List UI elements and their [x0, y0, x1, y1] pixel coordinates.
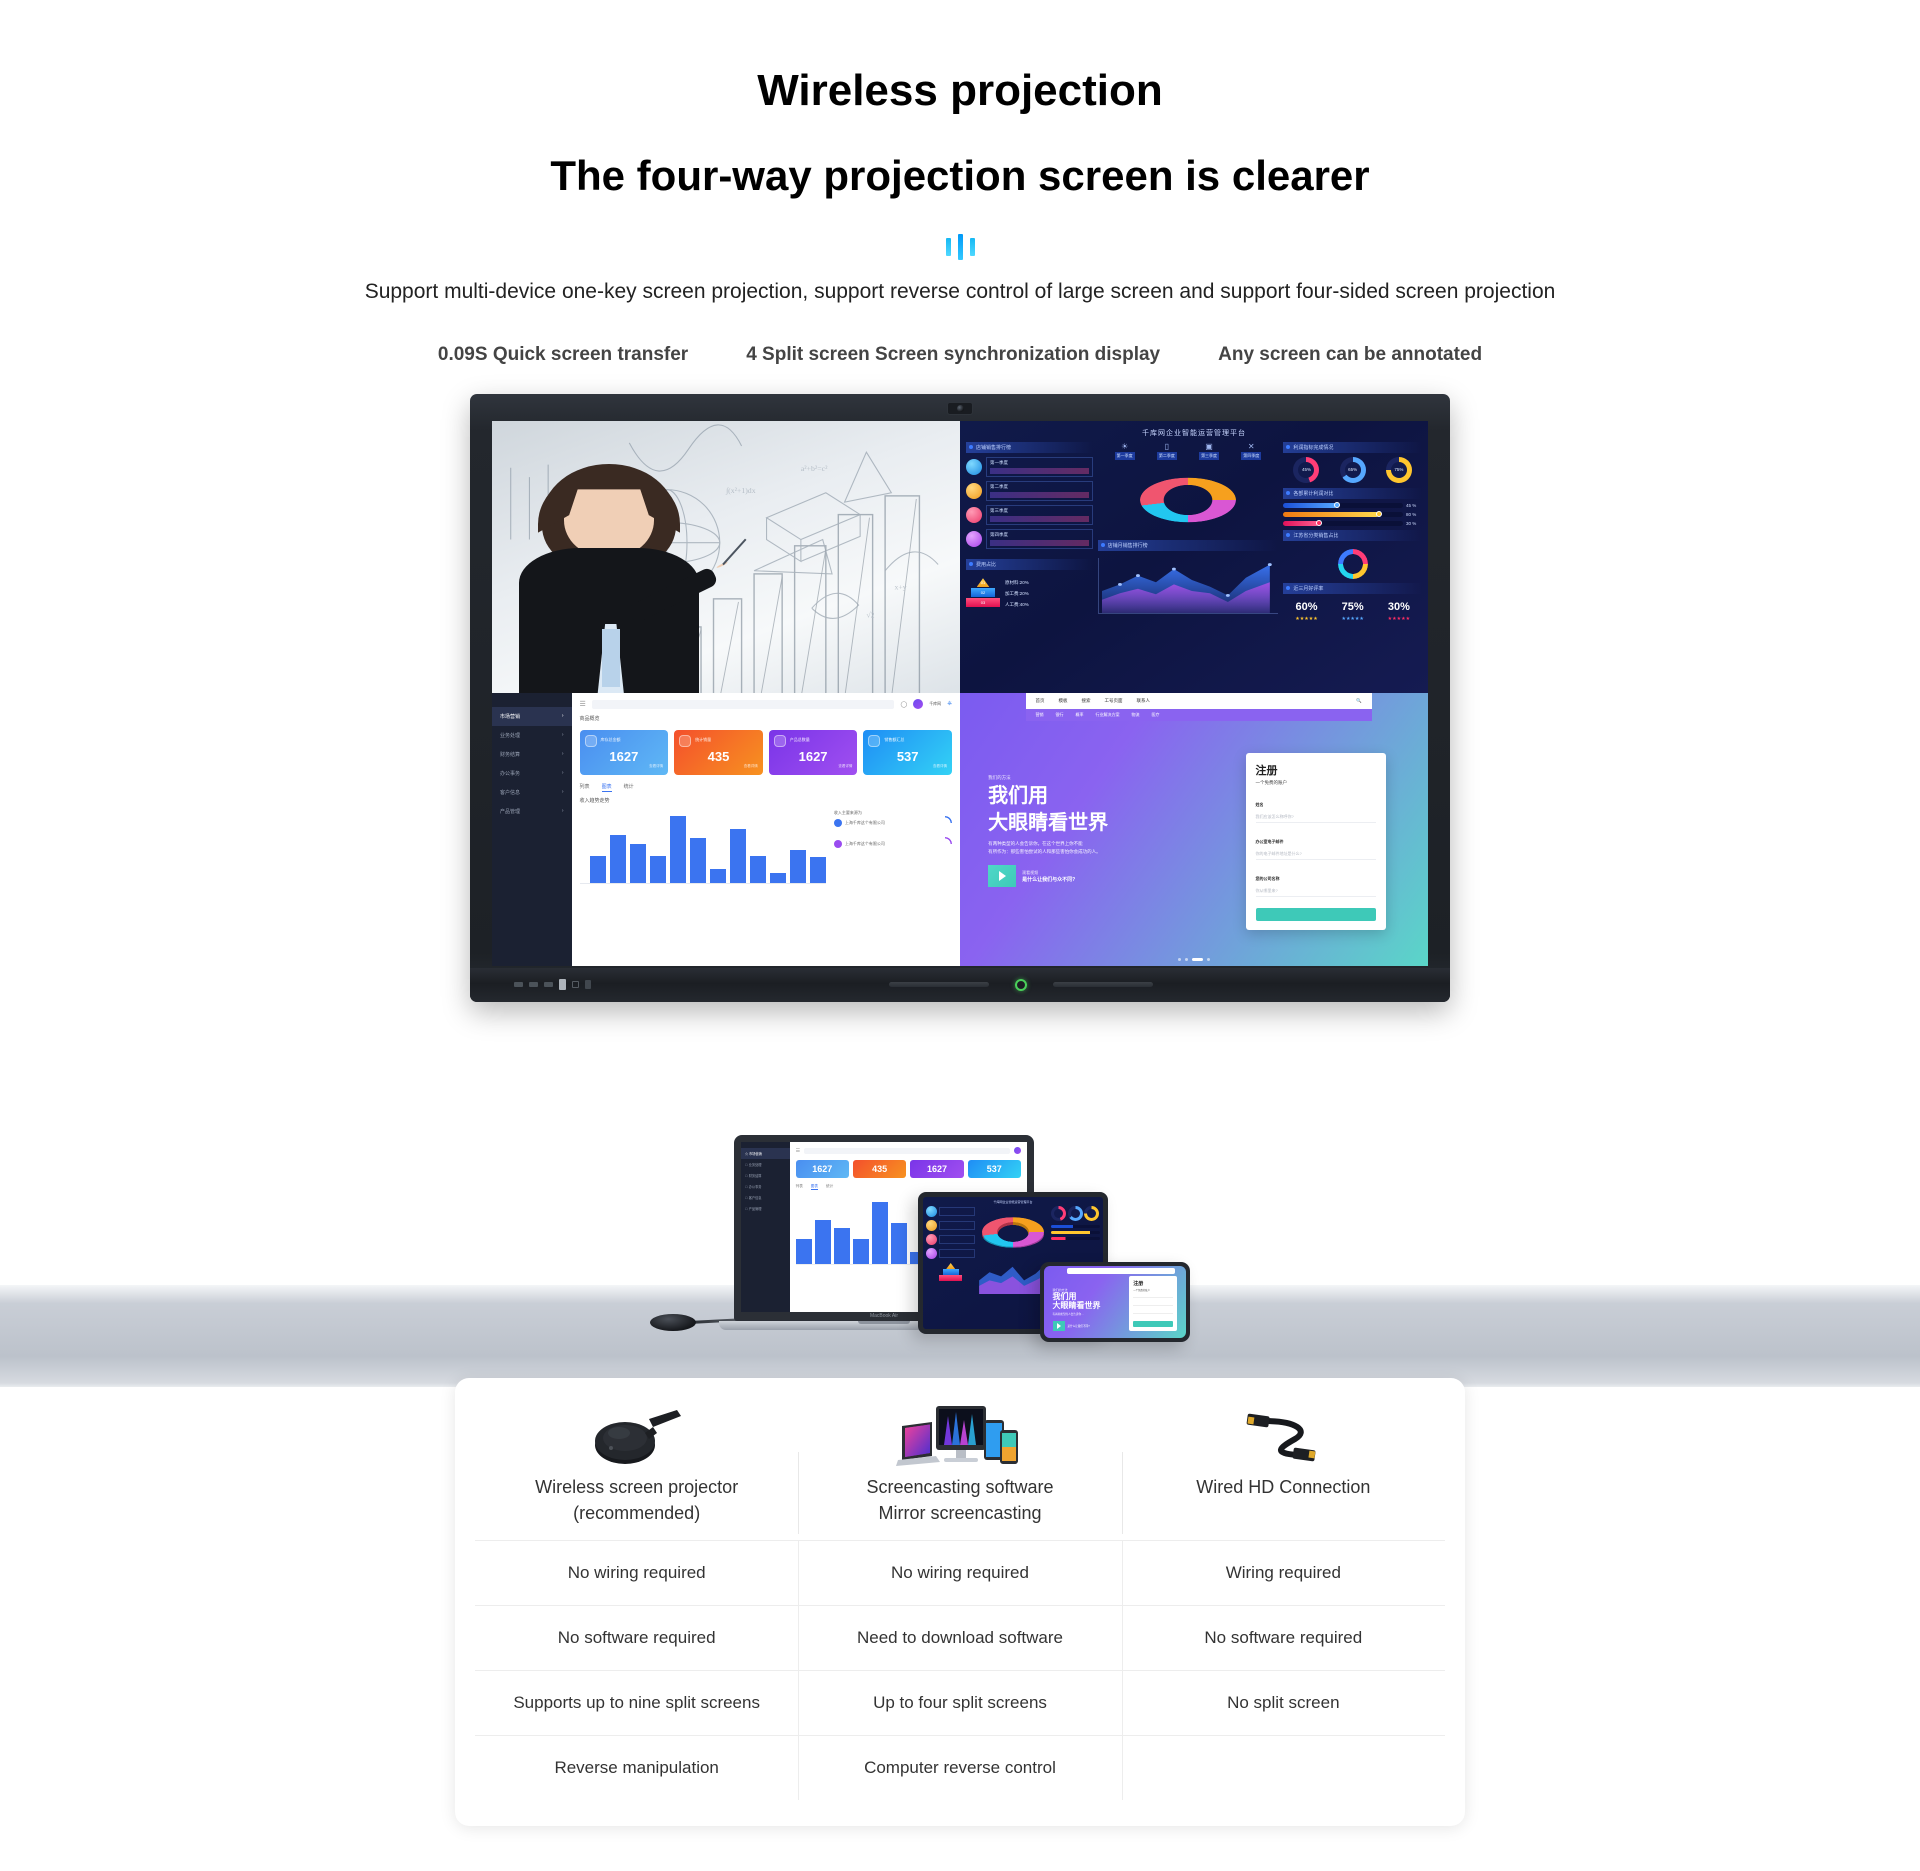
quadrant-admin-dashboard: 市场营销› 业务处理› 财务结算› 办公事务› 客户信息› 产品管理› ☰ ◯ — [492, 693, 960, 966]
field-label: 姓名 — [1256, 802, 1264, 807]
cell-wireless-reverse: Reverse manipulation — [475, 1736, 798, 1800]
progress-bar-3-value: 30 % — [1406, 521, 1422, 526]
quarter-tab-2-label: 第二季度 — [1157, 452, 1177, 460]
presenter-figure — [515, 459, 702, 693]
chart-icon — [585, 735, 597, 747]
bi-panel-expense-label: 费用占比 — [966, 559, 1093, 570]
landing-headline-1: 我们用 — [988, 784, 1203, 808]
gauge-chart-2: 65% — [1340, 457, 1366, 483]
progress-bar-row: 30 % — [1283, 521, 1422, 526]
bi-profit-target-text: 利润指标完成情况 — [1293, 444, 1333, 451]
star-rating-icon: ★★★★★ — [1295, 616, 1317, 622]
wallet-icon — [966, 531, 982, 547]
device-cluster: ☆ 市场营销 ☐ 业务处理 ☐ 财务结算 ☐ 办公事务 ☐ 客户信息 ☐ 产品管… — [0, 1110, 1920, 1360]
cell-wireless-split: Supports up to nine split screens — [475, 1671, 798, 1735]
admin-sidebar[interactable]: 市场营销› 业务处理› 财务结算› 办公事务› 客户信息› 产品管理› — [492, 693, 572, 966]
comparison-column-wired: Wired HD Connection — [1122, 1396, 1445, 1540]
sidebar-item-marketing[interactable]: 市场营销› — [492, 707, 572, 726]
field-placeholder: 你的电子邮件地址是什么? — [1256, 851, 1376, 860]
carousel-dot-active[interactable] — [1192, 958, 1203, 961]
column-label-line1: Screencasting software — [808, 1474, 1111, 1500]
power-key-icon[interactable] — [585, 980, 591, 989]
pyramid-level-1: 01 — [977, 578, 990, 587]
sidebar-item-business[interactable]: 业务处理› — [492, 726, 572, 745]
column-label-line2: (recommended) — [485, 1500, 788, 1526]
pyramid-legend-3: 人工费:40% — [1005, 599, 1029, 610]
hdmi-cable-icon — [1132, 1402, 1435, 1474]
sparkline-chart — [990, 492, 1089, 498]
power-indicator-icon[interactable] — [1015, 979, 1027, 991]
form-submit-button[interactable] — [1256, 908, 1376, 921]
page-subtitle-heading: The four-way projection screen is cleare… — [0, 149, 1920, 204]
bi-jiangsu-text: 江苏省分类销售占比 — [1293, 532, 1338, 539]
feature-item-split-screen: 4 Split screen Screen synchronization di… — [746, 344, 1160, 366]
bi-rank-label: 第四季度 — [990, 532, 1089, 538]
port-cluster — [514, 979, 591, 990]
divider-bar-left — [946, 238, 951, 256]
kpi-value: 1627 — [585, 749, 664, 764]
quarter-tab-4[interactable]: ✕第四季度 — [1241, 442, 1261, 460]
camera-icon — [947, 402, 973, 415]
donut-3d-chart — [1140, 464, 1236, 536]
donut-mini-icon — [938, 837, 952, 851]
bi-panel-praise-label: 近三月好评率 — [1283, 583, 1422, 594]
svg-text:x+y: x+y — [894, 582, 906, 591]
bi-center-column: ☀第一季度 ▯第二季度 ▣第三季度 ✕第四季度 店铺月销售排行榜 — [1098, 442, 1279, 689]
kpi-sub: 查看详情 — [868, 764, 947, 769]
column-label-line1: Wireless screen projector — [485, 1474, 788, 1500]
form-title: 注册 — [1256, 762, 1376, 778]
comparison-column-software: Screencasting software Mirror screencast… — [798, 1396, 1121, 1540]
praise-value-3: 30% — [1388, 601, 1410, 613]
document-icon — [679, 735, 691, 747]
bi-right-column: 利润指标完成情况 45% 65% 75% 各部累计利润对比 45 % — [1283, 442, 1422, 689]
nav-item-template[interactable]: 模板 — [1059, 698, 1068, 704]
chevron-right-icon: › — [562, 751, 564, 758]
praise-value-1: 60% — [1295, 601, 1317, 613]
sidebar-item-customer[interactable]: 客户信息› — [492, 783, 572, 802]
gauge-chart-3: 75% — [1386, 457, 1412, 483]
bi-panel-profit-target-label: 利润指标完成情况 — [1283, 442, 1422, 453]
carousel-dots[interactable] — [1178, 958, 1210, 961]
form-field-email[interactable]: 办公室电子邮件你的电子邮件地址是什么? — [1256, 830, 1376, 860]
cell-software-split: Up to four split screens — [798, 1671, 1121, 1735]
speaker-and-power-group — [889, 979, 1153, 991]
nav-item-search[interactable]: 搜索 — [1082, 698, 1091, 704]
kpi-sub: 查看详情 — [774, 764, 853, 769]
donut-ring — [1140, 477, 1236, 522]
revenue-source-item: 上海千库这个有限公司 — [834, 816, 952, 830]
field-placeholder: 我们应该怎么称呼你? — [1256, 814, 1376, 823]
field-label: 办公室电子邮件 — [1256, 839, 1284, 844]
gauge-group: 45% 65% 75% — [1283, 457, 1422, 483]
admin-chart-tabs[interactable]: 列表 图表 统计 — [580, 783, 952, 792]
clock-icon — [868, 735, 880, 747]
svg-text:√2: √2 — [866, 610, 874, 619]
multi-device-glyph — [896, 1404, 1024, 1472]
landing-headline-2: 大眼睛看世界 — [988, 811, 1203, 835]
gauge-3-value: 75% — [1394, 467, 1403, 472]
column-label-line1: Wired HD Connection — [1132, 1474, 1435, 1500]
wireless-dongle-icon — [485, 1402, 788, 1474]
revenue-source-name: 上海千库这个有限公司 — [845, 820, 885, 826]
subnav-item-probability[interactable]: 概率 — [1076, 712, 1084, 718]
kpi-card[interactable]: 统计销量435查看详情 — [674, 730, 763, 775]
hero-section: Wireless projection The four-way project… — [0, 0, 1920, 366]
chevron-right-icon: › — [562, 789, 564, 796]
search-icon[interactable]: 🔍 — [1356, 698, 1362, 704]
star-rating-icon: ★★★★★ — [1341, 616, 1363, 622]
bi-expense-text: 费用占比 — [976, 561, 996, 568]
landing-hero-text: 我们的方法 我们用 大眼睛看世界 有两种类型的人会告诉你，在这个世界上你不能 有… — [988, 775, 1203, 887]
field-label: 您的公司名称 — [1256, 876, 1280, 881]
bi-monthly-text: 店铺月销售排行榜 — [1108, 542, 1148, 549]
usb-port-icon — [559, 979, 566, 990]
display-showcase: ∫(x²+1)dx a²+b²=c² x+y √2 y=kx Σ — [0, 394, 1920, 1002]
kpi-card[interactable]: 库存总金额1627查看详情 — [580, 730, 669, 775]
kpi-value: 1627 — [774, 749, 853, 764]
pyramid-legend-2: 加工费:20% — [1005, 588, 1029, 599]
area-chart — [1098, 558, 1279, 614]
praise-value-2: 75% — [1342, 601, 1364, 613]
bi-dashboard-title: 千库网企业智能运营管理平台 — [966, 426, 1422, 442]
pyramid-chart: 01 02 03 原材料:20% 加工费:20% 人工费:40% — [966, 577, 1093, 610]
cell-wireless-software: No software required — [475, 1606, 798, 1670]
bi-quarter-tabs[interactable]: ☀第一季度 ▯第二季度 ▣第三季度 ✕第四季度 — [1098, 442, 1279, 460]
bi-rank-label: 第一季度 — [990, 460, 1089, 466]
kpi-card-row: 库存总金额1627查看详情 统计销量435查看详情 产品总数量1627查看详情 … — [580, 730, 952, 775]
sparkline-chart — [990, 516, 1089, 522]
cell-software-wiring: No wiring required — [798, 1541, 1121, 1605]
pyramid-legend-1: 原材料:20% — [1005, 577, 1029, 588]
kpi-value: 435 — [679, 749, 758, 764]
tab-list[interactable]: 列表 — [580, 783, 590, 792]
presenter-scarf — [602, 629, 620, 687]
wireless-dongle-glyph — [589, 1407, 685, 1469]
hdmi-port-icon — [529, 982, 538, 987]
snowflake-icon — [966, 459, 982, 475]
landing-kicker: 我们的方法 — [988, 775, 1203, 781]
revenue-source-name: 上海千库这个有限公司 — [845, 841, 885, 847]
quarter-tab-1-label: 第一季度 — [1115, 452, 1135, 460]
signup-form-card[interactable]: 注册 一个免费的账户 姓名我们应该怎么称呼你? 办公室电子邮件你的电子邮件地址是… — [1246, 753, 1386, 930]
quarter-tab-2[interactable]: ▯第二季度 — [1157, 442, 1177, 460]
feature-item-annotation: Any screen can be annotated — [1218, 344, 1482, 366]
pyramid-level-2: 02 — [971, 588, 995, 597]
bi-rank-label: 第二季度 — [990, 484, 1089, 490]
svg-text:a²+b²=c²: a²+b²=c² — [801, 464, 828, 473]
kpi-label: 统计销量 — [695, 737, 711, 743]
gauge-chart-1: 45% — [1293, 457, 1319, 483]
subnav-item-solutions[interactable]: 行业解决方案 — [1096, 712, 1120, 718]
quarter-tab-3-label: 第三季度 — [1199, 452, 1219, 460]
quadrant-bi-dashboard: 千库网企业智能运营管理平台 店铺销售排行榜 第一季度 第二季度 — [960, 421, 1428, 694]
bi-panel-monthly-label: 店铺月销售排行榜 — [1098, 540, 1279, 551]
chevron-right-icon: › — [562, 713, 564, 720]
table-row: Supports up to nine split screens Up to … — [475, 1670, 1445, 1735]
bi-praise-text: 近三月好评率 — [1293, 585, 1323, 592]
chevron-right-icon: › — [562, 732, 564, 739]
feature-highlights: 0.09S Quick screen transfer 4 Split scre… — [0, 344, 1920, 366]
table-row: Reverse manipulation Computer reverse co… — [475, 1735, 1445, 1800]
bi-left-column: 店铺销售排行榜 第一季度 第二季度 第三季度 — [966, 442, 1093, 689]
speaker-grille-left — [889, 982, 989, 987]
sidebar-item-finance[interactable]: 财务结算› — [492, 745, 572, 764]
quadrant-presenter-photo: ∫(x²+1)dx a²+b²=c² x+y √2 y=kx Σ — [492, 421, 960, 694]
box-icon — [774, 735, 786, 747]
revenue-source-list: 收入主要来源为 上海千库这个有限公司 上海千库这个有限公司 — [834, 810, 952, 884]
bi-panel-profit-compare-label: 各部累计利润对比 — [1283, 488, 1422, 499]
hamburger-icon[interactable]: ☰ — [580, 700, 586, 708]
quarter-tab-1[interactable]: ☀第一季度 — [1115, 442, 1135, 460]
progress-bar-1-value: 45 % — [1406, 503, 1422, 508]
cell-wired-software: No software required — [1122, 1606, 1445, 1670]
landing-paragraph-2: 有所作为：那些害怕尝试的人和那些害怕你会成功的人。 — [988, 848, 1203, 856]
nav-item-home[interactable]: 首页 — [1036, 698, 1045, 704]
divider-bar-center — [958, 234, 963, 260]
carousel-dot[interactable] — [1178, 958, 1181, 961]
video-kicker: 观看视频 — [1022, 870, 1075, 876]
nav-item-contact[interactable]: 联系人 — [1137, 698, 1151, 704]
subnav-item-bank[interactable]: 银行 — [1056, 712, 1064, 718]
purple-dot-icon — [834, 840, 842, 848]
blue-dot-icon — [834, 819, 842, 827]
kpi-value: 537 — [868, 749, 947, 764]
kpi-label: 销售额汇总 — [884, 737, 904, 743]
revenue-source-item: 上海千库这个有限公司 — [834, 837, 952, 851]
sparkline-chart — [990, 540, 1089, 546]
play-icon[interactable] — [988, 865, 1016, 887]
subnav-item-medical[interactable]: 医疗 — [1152, 712, 1160, 718]
praise-stars: ★★★★★ ★★★★★ ★★★★★ — [1283, 616, 1422, 622]
search-input[interactable] — [592, 700, 895, 709]
dongle-puck — [650, 1314, 696, 1331]
svg-text:∫(x²+1)dx: ∫(x²+1)dx — [725, 486, 756, 495]
audio-jack-icon — [572, 981, 579, 988]
quarter-tab-4-label: 第四季度 — [1241, 452, 1261, 460]
divider-bar-right — [970, 238, 975, 256]
gauge-1-value: 45% — [1302, 467, 1311, 472]
phone-device: 我们的方法 我们用 大眼睛看世界 有两种类型的人会告诉你… 是什么让我们不同? … — [1040, 1262, 1190, 1342]
kpi-card[interactable]: 销售额汇总537查看详情 — [863, 730, 952, 775]
form-subtitle: 一个免费的账户 — [1256, 780, 1376, 786]
admin-section-title: 商品概览 — [580, 715, 952, 722]
subnav-item-logistics[interactable]: 物流 — [1132, 712, 1140, 718]
carousel-dot[interactable] — [1185, 958, 1188, 961]
speaker-grille-right — [1053, 982, 1153, 987]
interactive-flat-panel: ∫(x²+1)dx a²+b²=c² x+y √2 y=kx Σ — [470, 394, 1450, 1002]
hero-description: Support multi-device one-key screen proj… — [0, 280, 1920, 304]
kpi-label: 库存总金额 — [601, 737, 621, 743]
landing-video-cta[interactable]: 观看视频 是什么让我们与众不同? — [988, 865, 1203, 887]
hdmi-port-icon — [514, 982, 523, 987]
cell-wireless-wiring: No wiring required — [475, 1541, 798, 1605]
page-root: Wireless projection The four-way project… — [0, 0, 1920, 1871]
landing-paragraph-1: 有两种类型的人会告诉你，在这个世界上你不能 — [988, 840, 1203, 848]
feature-item-quick-transfer: 0.09S Quick screen transfer — [438, 344, 688, 366]
comparison-table-card: Wireless screen projector (recommended) — [455, 1378, 1465, 1826]
page-title: Wireless projection — [0, 62, 1920, 119]
search-icon[interactable]: ◯ — [900, 701, 907, 708]
sparkline-chart — [990, 468, 1089, 474]
tab-chart[interactable]: 图表 — [602, 783, 612, 792]
hdmi-cable-glyph — [1235, 1405, 1331, 1471]
chevron-right-icon: › — [562, 808, 564, 815]
bi-panel-store-rank-label: 店铺销售排行榜 — [966, 442, 1093, 453]
video-label: 是什么让我们与众不同? — [1022, 876, 1075, 883]
kpi-label: 产品总数量 — [790, 737, 810, 743]
cell-wired-split: No split screen — [1122, 1671, 1445, 1735]
vga-port-icon — [544, 982, 553, 987]
table-row: No software required Need to download so… — [475, 1605, 1445, 1670]
bi-rank-item: 第二季度 — [966, 481, 1093, 501]
landing-navbar[interactable]: 首页 模板 搜索 工号页面 联系人 🔍 营销 银行 概率 行业解决方案 — [1026, 693, 1372, 721]
mini-donut-chart — [1338, 549, 1368, 579]
bi-rank-item: 第四季度 — [966, 529, 1093, 549]
cell-software-software: Need to download software — [798, 1606, 1121, 1670]
progress-bar-2-value: 80 % — [1406, 512, 1422, 517]
target-icon — [966, 483, 982, 499]
bi-store-rank-text: 店铺销售排行榜 — [976, 444, 1011, 451]
donut-mini-icon — [938, 816, 952, 830]
bi-rank-item: 第一季度 — [966, 457, 1093, 477]
tab-stats[interactable]: 统计 — [624, 783, 634, 792]
presenter-suit — [519, 548, 699, 693]
progress-bar-row: 80 % — [1283, 512, 1422, 517]
table-row: No wiring required No wiring required Wi… — [475, 1540, 1445, 1605]
gauge-2-value: 65% — [1348, 467, 1357, 472]
avatar[interactable] — [913, 699, 923, 709]
admin-chart-area: 收入主要来源为 上海千库这个有限公司 上海千库这个有限公司 — [580, 810, 952, 884]
quadrant-landing-page: 首页 模板 搜索 工号页面 联系人 🔍 营销 银行 概率 行业解决方案 — [960, 693, 1428, 966]
admin-topbar: ☰ ◯ 千库网 ⎈ — [580, 699, 952, 709]
comparison-header-row: Wireless screen projector (recommended) — [475, 1396, 1445, 1540]
kpi-sub: 查看详情 — [679, 764, 758, 769]
comparison-column-wireless: Wireless screen projector (recommended) — [475, 1396, 798, 1540]
phone-screen: 我们的方法 我们用 大眼睛看世界 有两种类型的人会告诉你… 是什么让我们不同? … — [1044, 1266, 1186, 1338]
progress-bar-row: 45 % — [1283, 503, 1422, 508]
monitor-bottom-bezel — [470, 968, 1450, 1002]
username-label: 千库网 — [929, 701, 941, 707]
sidebar-item-product[interactable]: 产品管理› — [492, 802, 572, 821]
praise-values: 60% 75% 30% — [1283, 601, 1422, 613]
chevron-right-icon: › — [562, 770, 564, 777]
form-field-company[interactable]: 您的公司名称你从哪里来? — [1256, 867, 1376, 897]
kpi-card[interactable]: 产品总数量1627查看详情 — [769, 730, 858, 775]
multi-device-icon — [808, 1402, 1111, 1474]
form-field-name[interactable]: 姓名我们应该怎么称呼你? — [1256, 793, 1376, 823]
kpi-sub: 查看详情 — [585, 764, 664, 769]
sidebar-item-office[interactable]: 办公事务› — [492, 764, 572, 783]
bar-chart — [580, 810, 826, 884]
pyramid-level-3: 03 — [966, 598, 1000, 607]
four-way-split-screen: ∫(x²+1)dx a²+b²=c² x+y √2 y=kx Σ — [492, 421, 1428, 966]
carousel-dot[interactable] — [1207, 958, 1210, 961]
nav-item-jobs[interactable]: 工号页面 — [1105, 698, 1123, 704]
cell-wired-wiring: Wiring required — [1122, 1541, 1445, 1605]
laptop-brand-label: MacBook Air — [870, 1313, 898, 1319]
bi-rank-item: 第三季度 — [966, 505, 1093, 525]
card-icon — [966, 507, 982, 523]
admin-chart-title: 收入趋势走势 — [580, 797, 952, 804]
cell-wired-reverse — [1122, 1736, 1445, 1800]
column-label-line2: Mirror screencasting — [808, 1500, 1111, 1526]
cell-software-reverse: Computer reverse control — [798, 1736, 1121, 1800]
bi-profit-compare-text: 各部累计利润对比 — [1293, 490, 1333, 497]
bi-panel-jiangsu-label: 江苏省分类销售占比 — [1283, 530, 1422, 541]
quarter-tab-3[interactable]: ▣第三季度 — [1199, 442, 1219, 460]
field-placeholder: 你从哪里来? — [1256, 888, 1376, 897]
star-rating-icon: ★★★★★ — [1388, 616, 1410, 622]
decorative-bars-divider — [930, 232, 990, 262]
power-icon[interactable]: ⎈ — [947, 701, 952, 708]
subnav-item-marketing[interactable]: 营销 — [1036, 712, 1044, 718]
bi-rank-label: 第三季度 — [990, 508, 1089, 514]
admin-main-area: ☰ ◯ 千库网 ⎈ 商品概览 库存总金额1627查看详情 统计销量435查看详情… — [572, 693, 960, 966]
